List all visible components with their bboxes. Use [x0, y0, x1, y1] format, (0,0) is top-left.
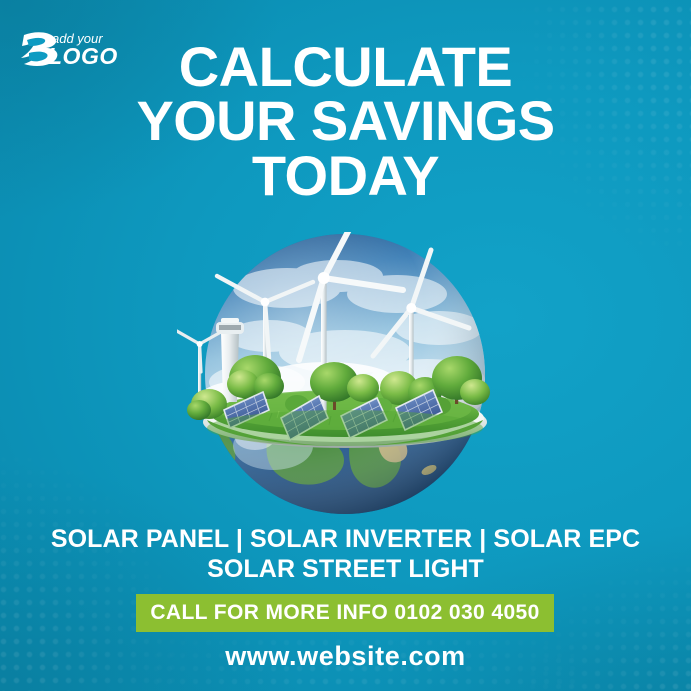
- poster-canvas: add your LOGO CALCULATE YOUR SAVINGS TOD…: [0, 0, 691, 691]
- headline-line-2: YOUR SAVINGS: [40, 94, 651, 148]
- services-list: SOLAR PANEL | SOLAR INVERTER | SOLAR EPC…: [0, 525, 691, 584]
- headline: CALCULATE YOUR SAVINGS TODAY: [0, 40, 691, 203]
- headline-line-3: TODAY: [40, 149, 651, 203]
- services-line-2: SOLAR STREET LIGHT: [0, 555, 691, 585]
- services-line-1: SOLAR PANEL | SOLAR INVERTER | SOLAR EPC: [0, 525, 691, 555]
- website-url[interactable]: www.website.com: [0, 641, 691, 672]
- renewable-energy-globe-illustration: [177, 232, 513, 522]
- call-for-info-button[interactable]: CALL FOR MORE INFO 0102 030 4050: [136, 594, 554, 632]
- headline-line-1: CALCULATE: [40, 40, 651, 94]
- call-for-info-label: CALL FOR MORE INFO 0102 030 4050: [150, 601, 539, 625]
